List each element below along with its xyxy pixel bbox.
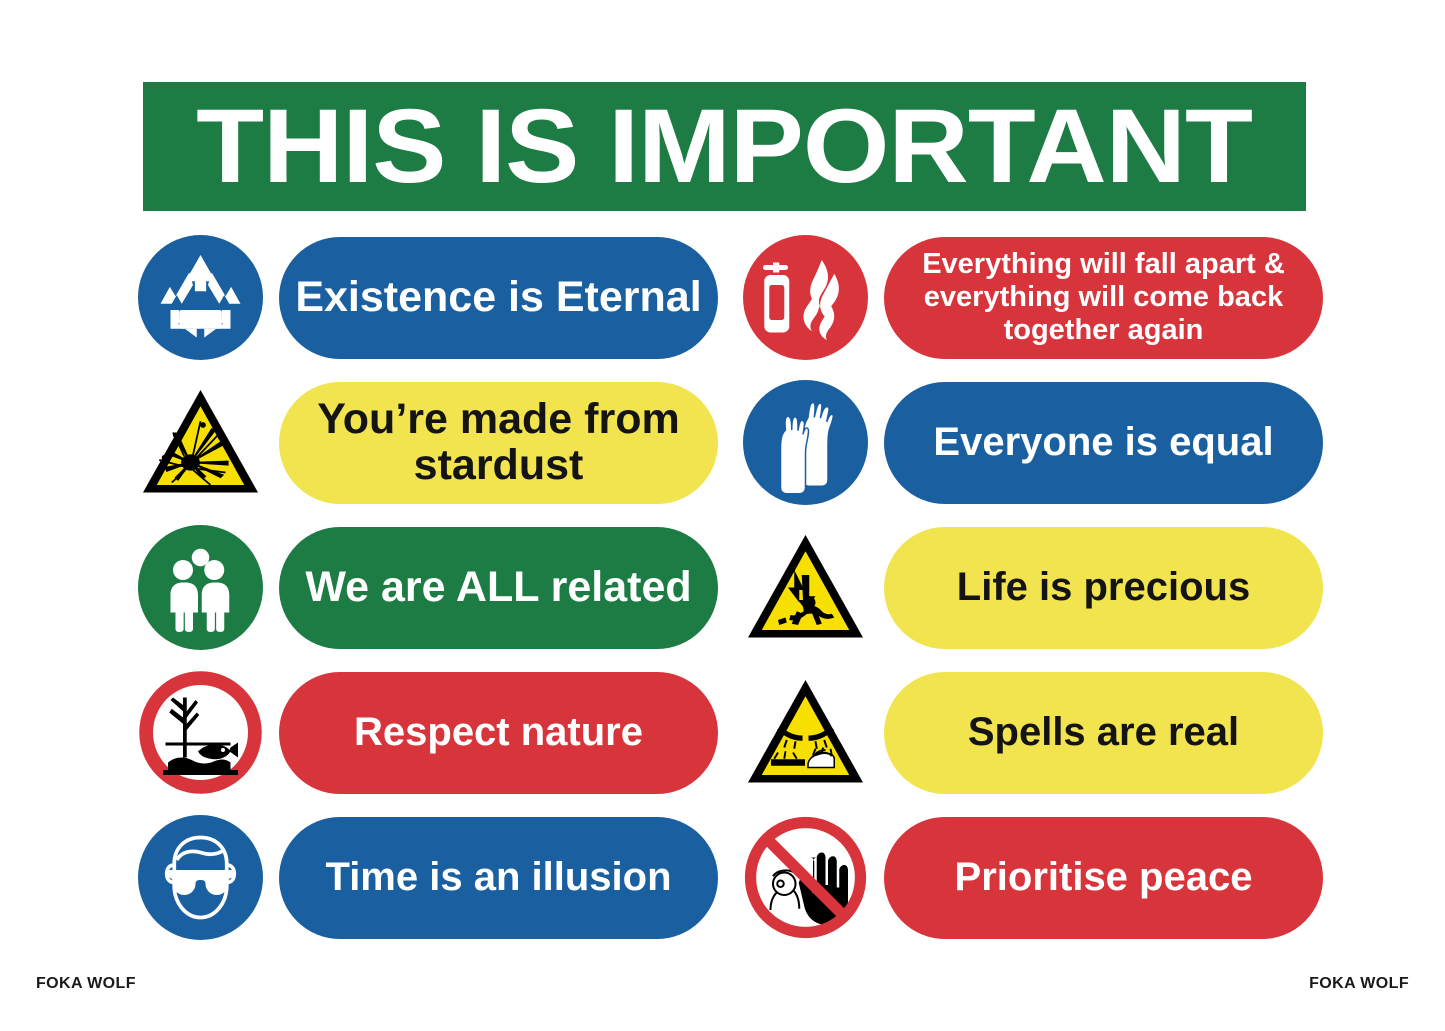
sign-item[interactable]: Prioritise peace [743,805,1323,950]
recycling-icon [138,235,263,360]
sign-pill[interactable]: Prioritise peace [884,817,1323,939]
sign-item[interactable]: Time is an illusion [138,805,718,950]
sign-label: We are ALL related [305,565,691,611]
safety-goggles-icon [138,815,263,940]
explosion-hazard-icon [138,380,263,505]
header-banner: THIS IS IMPORTANT [143,82,1306,211]
group-of-people-icon [138,525,263,650]
sign-pill[interactable]: Spells are real [884,672,1323,794]
sign-grid: Existence is Eternal [0,225,1445,950]
sign-item[interactable]: Respect nature [138,660,718,805]
sign-label: Everyone is equal [933,421,1273,463]
poster-canvas: THIS IS IMPORTANT [0,0,1445,1031]
sign-label: Spells are real [968,711,1239,753]
footer-mark-right: FOKA WOLF [1309,975,1409,993]
sign-item[interactable]: You’re made from stardust [138,370,718,515]
sign-label: Respect nature [354,711,643,753]
sign-item[interactable]: Life is precious [743,515,1323,660]
sign-pill[interactable]: Respect nature [279,672,718,794]
electric-shock-hazard-icon [743,525,868,650]
protective-gloves-icon [743,380,868,505]
sign-pill[interactable]: Time is an illusion [279,817,718,939]
sign-item[interactable]: Existence is Eternal [138,225,718,370]
fire-extinguisher-icon [743,235,868,360]
sign-row: We are ALL related [0,515,1445,660]
sign-item[interactable]: We are ALL related [138,515,718,660]
no-unauthorised-access-icon [743,815,868,940]
sign-item[interactable]: Spells are real [743,660,1323,805]
sign-pill[interactable]: We are ALL related [279,527,718,649]
sign-label: Existence is Eternal [295,275,701,321]
sign-label: Prioritise peace [955,856,1253,898]
sign-row: Respect nature [0,660,1445,805]
environmental-hazard-icon [138,670,263,795]
sign-label: Time is an illusion [325,856,671,898]
sign-item[interactable]: Everything will fall apart & everything … [743,225,1323,370]
footer-mark-left: FOKA WOLF [36,975,136,993]
sign-row: You’re made from stardust Everyone is eq… [0,370,1445,515]
sign-pill[interactable]: Everything will fall apart & everything … [884,237,1323,359]
page-title: THIS IS IMPORTANT [197,94,1253,199]
sign-label: Everything will fall apart & everything … [900,248,1307,346]
sign-label: You’re made from stardust [295,397,702,488]
footer: FOKA WOLF FOKA WOLF [0,961,1445,1031]
sign-pill[interactable]: Existence is Eternal [279,237,718,359]
sign-item[interactable]: Everyone is equal [743,370,1323,515]
sign-row: Existence is Eternal [0,225,1445,370]
sign-pill[interactable]: You’re made from stardust [279,382,718,504]
sign-label: Life is precious [957,566,1250,608]
corrosive-hazard-icon [743,670,868,795]
sign-pill[interactable]: Everyone is equal [884,382,1323,504]
sign-pill[interactable]: Life is precious [884,527,1323,649]
sign-row: Time is an illusion [0,805,1445,950]
